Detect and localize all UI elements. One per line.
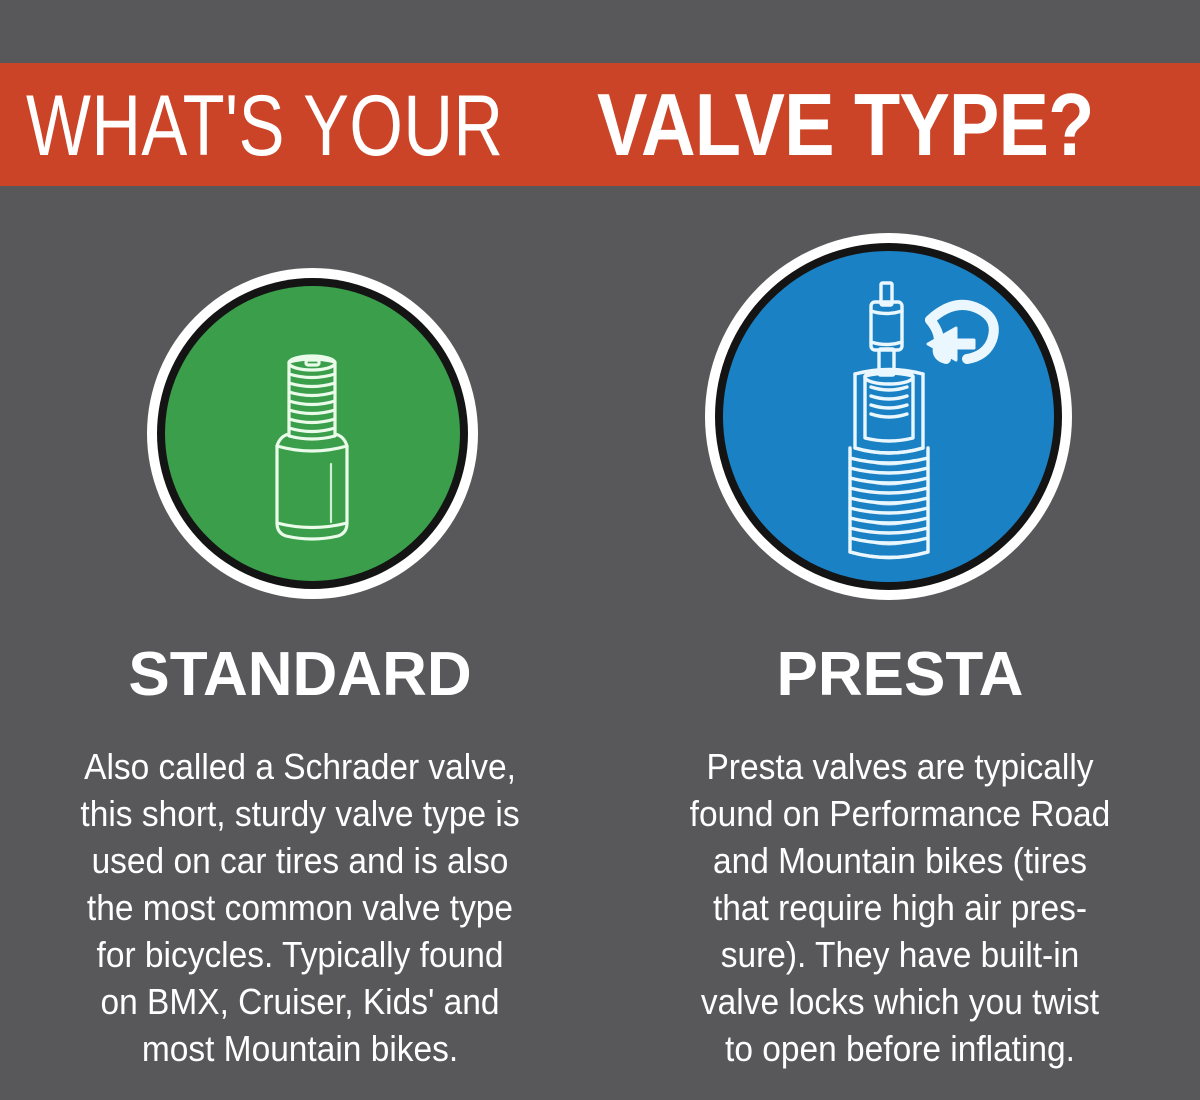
- badge-outer-ring: [705, 233, 1072, 600]
- page-title: WHAT'S YOUR VALVE TYPE?: [26, 81, 1174, 169]
- valve-title-presta: PRESTA: [600, 644, 1200, 706]
- badge-inner-ring: [157, 278, 468, 589]
- card-standard: STANDARD Also called a Schrader valve, t…: [0, 186, 600, 1100]
- presta-valve-icon: [724, 252, 1054, 582]
- badge-fill-green: [165, 286, 460, 581]
- valve-title-standard: STANDARD: [0, 644, 600, 706]
- header-banner: WHAT'S YOUR VALVE TYPE?: [0, 63, 1200, 186]
- card-presta: PRESTA Presta valves are typically found…: [600, 186, 1200, 1100]
- page-title-bold: VALVE TYPE?: [597, 81, 1094, 169]
- valve-type-columns: STANDARD Also called a Schrader valve, t…: [0, 186, 1200, 1100]
- valve-description-presta: Presta valves are typically found on Per…: [640, 743, 1161, 1072]
- infographic-page: WHAT'S YOUR VALVE TYPE?: [0, 0, 1200, 1100]
- page-title-light: WHAT'S YOUR: [26, 83, 504, 169]
- badge-fill-blue: [723, 251, 1054, 582]
- badge-presta: [705, 233, 1072, 600]
- badge-inner-ring: [715, 243, 1062, 590]
- badge-outer-ring: [147, 268, 478, 599]
- badge-standard: [147, 268, 478, 599]
- schrader-valve-icon: [165, 286, 460, 581]
- valve-description-standard: Also called a Schrader valve, this short…: [40, 743, 561, 1072]
